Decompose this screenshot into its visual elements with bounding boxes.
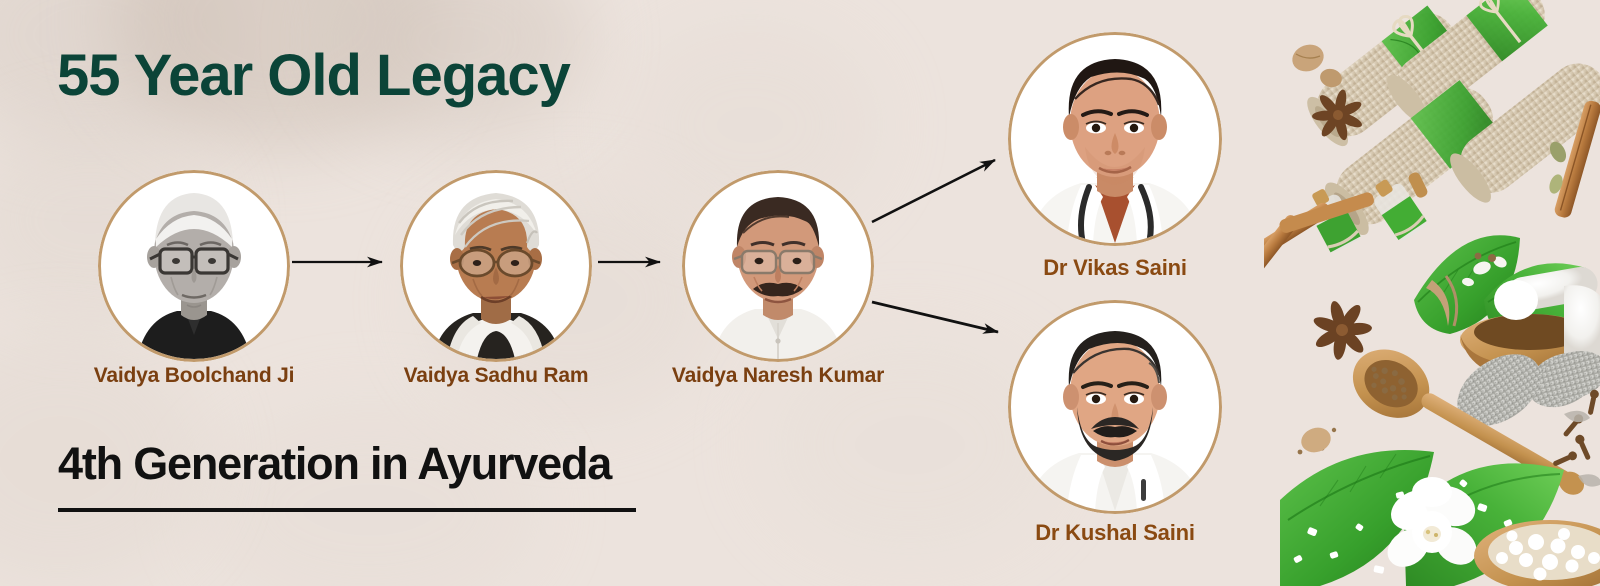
portrait-photo-naresh-kumar — [685, 173, 871, 359]
portrait-vaidya-boolchand-ji — [98, 170, 290, 362]
portrait-dr-vikas-saini — [1008, 32, 1222, 246]
portrait-photo-boolchand — [101, 173, 287, 359]
name-label-boolchand: Vaidya Boolchand Ji — [48, 364, 340, 388]
headline-legacy: 55 Year Old Legacy — [57, 46, 570, 107]
legacy-banner: 55 Year Old Legacy 4th Generation in Ayu… — [0, 0, 1600, 586]
arrow-naresh-to-vikas — [872, 160, 995, 222]
portrait-vaidya-sadhu-ram — [400, 170, 592, 362]
headline-generation: 4th Generation in Ayurveda — [58, 440, 611, 487]
arrow-naresh-to-kushal — [872, 302, 998, 332]
ayurveda-spa-collage — [1264, 0, 1600, 586]
portrait-photo-kushal-saini — [1011, 303, 1219, 511]
portrait-vaidya-naresh-kumar — [682, 170, 874, 362]
name-label-dr-kushal-saini: Dr Kushal Saini — [975, 520, 1255, 546]
name-label-naresh-kumar: Vaidya Naresh Kumar — [632, 364, 924, 388]
name-label-dr-vikas-saini: Dr Vikas Saini — [975, 255, 1255, 281]
portrait-photo-vikas-saini — [1011, 35, 1219, 243]
name-label-sadhu-ram: Vaidya Sadhu Ram — [350, 364, 642, 388]
portrait-photo-sadhu-ram — [403, 173, 589, 359]
headline-underline — [58, 508, 636, 512]
portrait-dr-kushal-saini — [1008, 300, 1222, 514]
